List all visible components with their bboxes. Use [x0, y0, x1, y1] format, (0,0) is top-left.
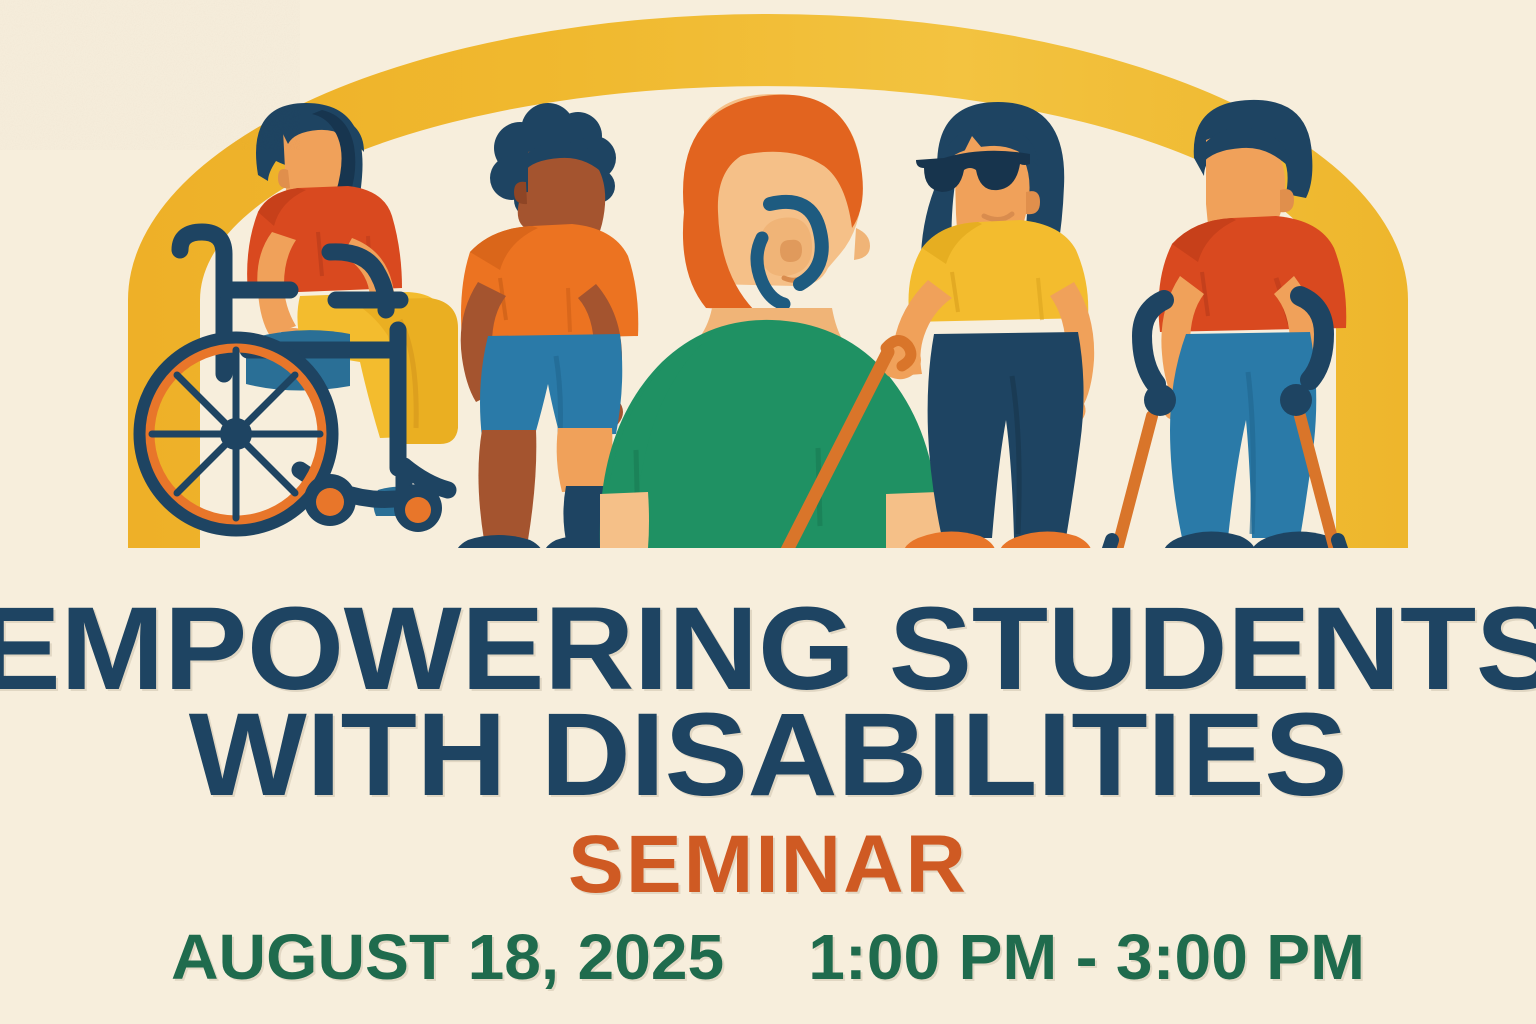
- event-datetime: AUGUST 18, 2025 1:00 PM - 3:00 PM: [0, 920, 1536, 994]
- illustration: [0, 0, 1536, 600]
- headline-line-2: WITH DISABILITIES: [0, 700, 1536, 811]
- poster-canvas: EMPOWERING STUDENTS WITH DISABILITIES SE…: [0, 0, 1536, 1024]
- subtitle-seminar: SEMINAR: [0, 818, 1536, 912]
- event-date: AUGUST 18, 2025: [171, 921, 724, 993]
- event-time: 1:00 PM - 3:00 PM: [808, 921, 1365, 993]
- figure-person-with-hearing-aid: [600, 94, 941, 548]
- figure-man-with-crutches: [1106, 100, 1346, 558]
